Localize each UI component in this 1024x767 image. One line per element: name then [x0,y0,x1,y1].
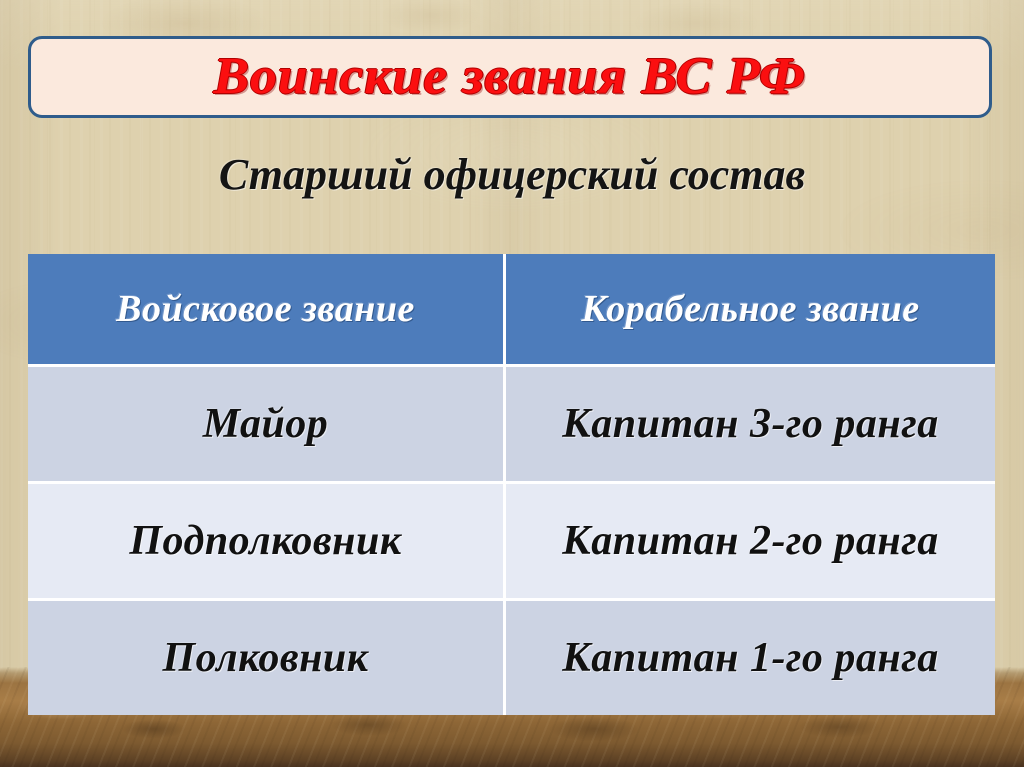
table-row: Майор Капитан 3-го ранга [28,367,995,484]
slide-canvas: Воинские звания ВС РФ Старший офицерский… [0,0,1024,767]
table-header: Войсковое звание Корабельное звание [28,254,995,367]
table-body: Майор Капитан 3-го ранга Подполковник Ка… [28,367,995,715]
cell-navy-rank: Капитан 1-го ранга [506,601,995,715]
navy-rank-label: Капитан 2-го ранга [562,517,939,565]
army-rank-label: Полковник [162,634,368,682]
cell-army-rank: Полковник [28,601,506,715]
page-title: Воинские звания ВС РФ [214,51,806,103]
army-rank-label: Майор [203,400,329,448]
column-header-navy-label: Корабельное звание [581,287,919,331]
army-rank-label: Подполковник [129,517,401,565]
cell-army-rank: Майор [28,367,506,484]
ranks-table: Войсковое звание Корабельное звание Майо… [28,254,995,715]
column-header-army-label: Войсковое звание [116,287,415,331]
table-row: Подполковник Капитан 2-го ранга [28,484,995,601]
cell-army-rank: Подполковник [28,484,506,601]
cell-navy-rank: Капитан 3-го ранга [506,367,995,484]
table-row: Полковник Капитан 1-го ранга [28,601,995,715]
table-header-row: Войсковое звание Корабельное звание [28,254,995,367]
cell-navy-rank: Капитан 2-го ранга [506,484,995,601]
navy-rank-label: Капитан 3-го ранга [562,400,939,448]
subtitle-text: Старший офицерский состав [0,152,1024,198]
navy-rank-label: Капитан 1-го ранга [562,634,939,682]
title-plaque: Воинские звания ВС РФ [28,36,992,118]
column-header-army: Войсковое звание [28,254,506,367]
column-header-navy: Корабельное звание [506,254,995,367]
